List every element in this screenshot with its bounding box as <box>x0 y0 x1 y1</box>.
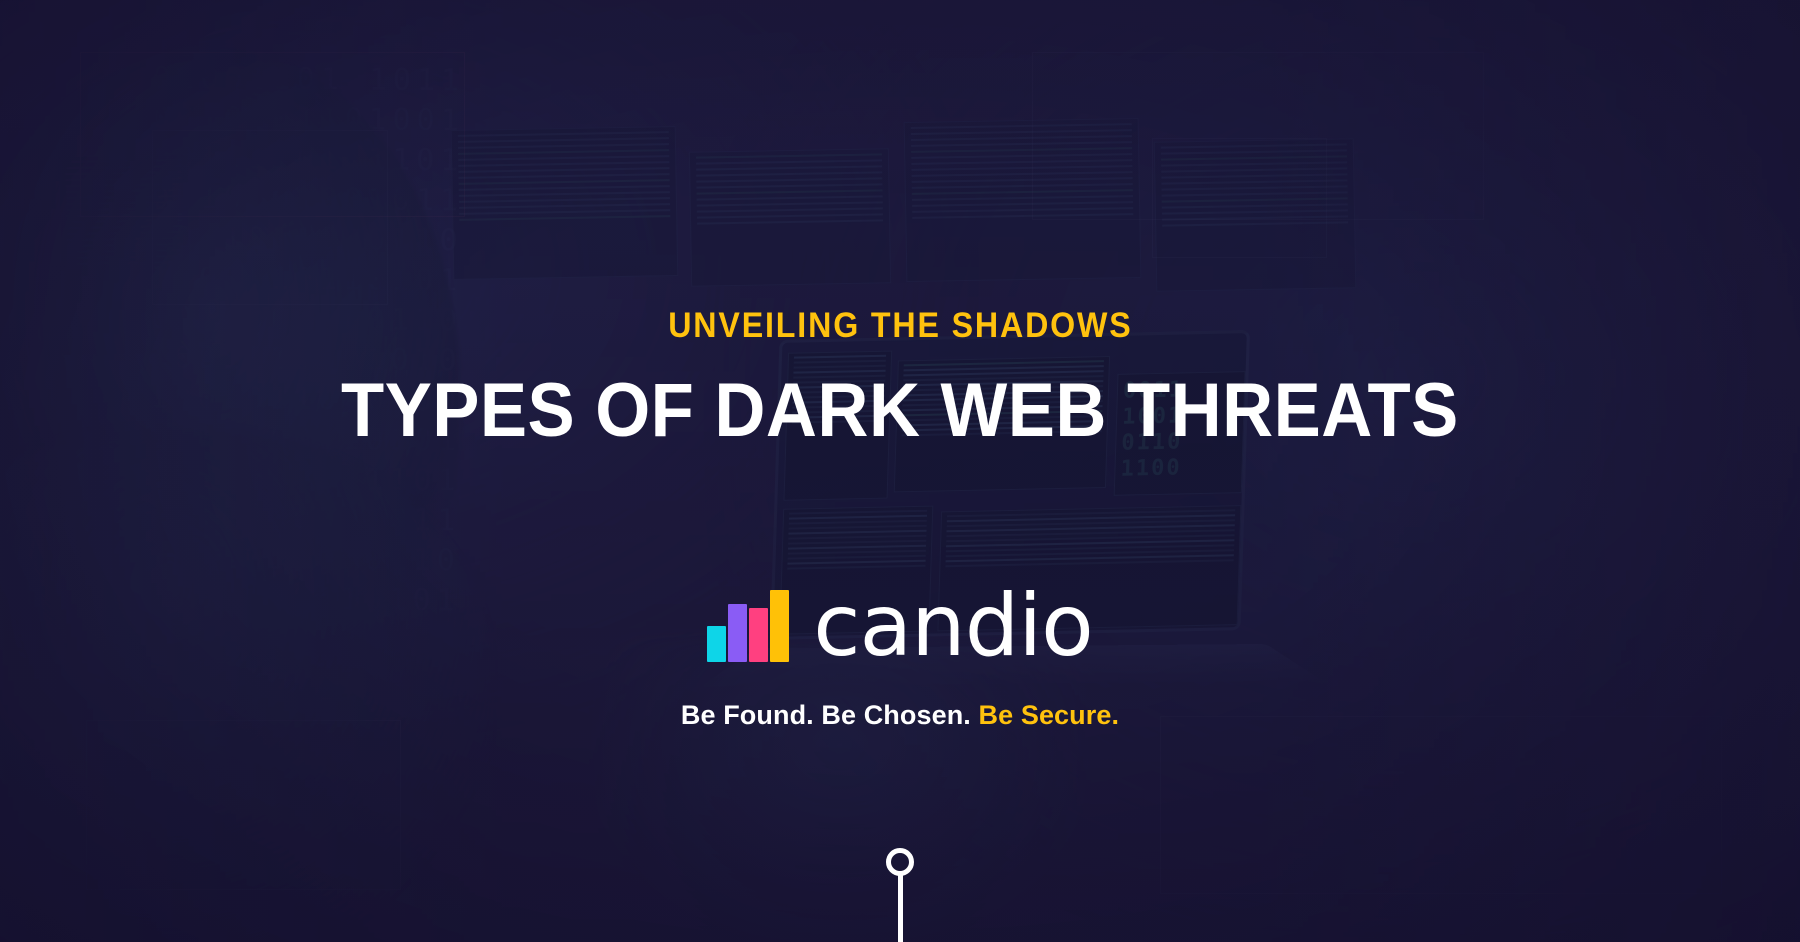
timeline-start-node <box>886 848 914 942</box>
tagline-part-one: Be Found. Be Chosen. <box>681 700 979 730</box>
timeline-dot-icon <box>886 848 914 876</box>
eyebrow-kicker: Unveiling the Shadows <box>668 308 1132 343</box>
candio-logo-lockup: candio <box>707 590 1093 664</box>
logo-bar-purple-icon <box>728 604 747 662</box>
tagline-part-secure: Be Secure. <box>979 700 1120 730</box>
logo-bar-yellow-icon <box>770 590 789 662</box>
candio-bar-chart-logo-icon <box>707 592 789 664</box>
logo-bar-cyan-icon <box>707 626 726 662</box>
timeline-stem-line <box>898 875 903 942</box>
page-title: Types of Dark Web Threats <box>341 371 1459 450</box>
slide-root: 0011100101101100 01001101 10110010 01101… <box>0 0 1800 942</box>
slide-content: Unveiling the Shadows Types of Dark Web … <box>0 0 1800 942</box>
brand-tagline: Be Found. Be Chosen. Be Secure. <box>681 700 1119 731</box>
candio-wordmark: candio <box>813 590 1093 664</box>
logo-bar-pink-icon <box>749 608 768 662</box>
